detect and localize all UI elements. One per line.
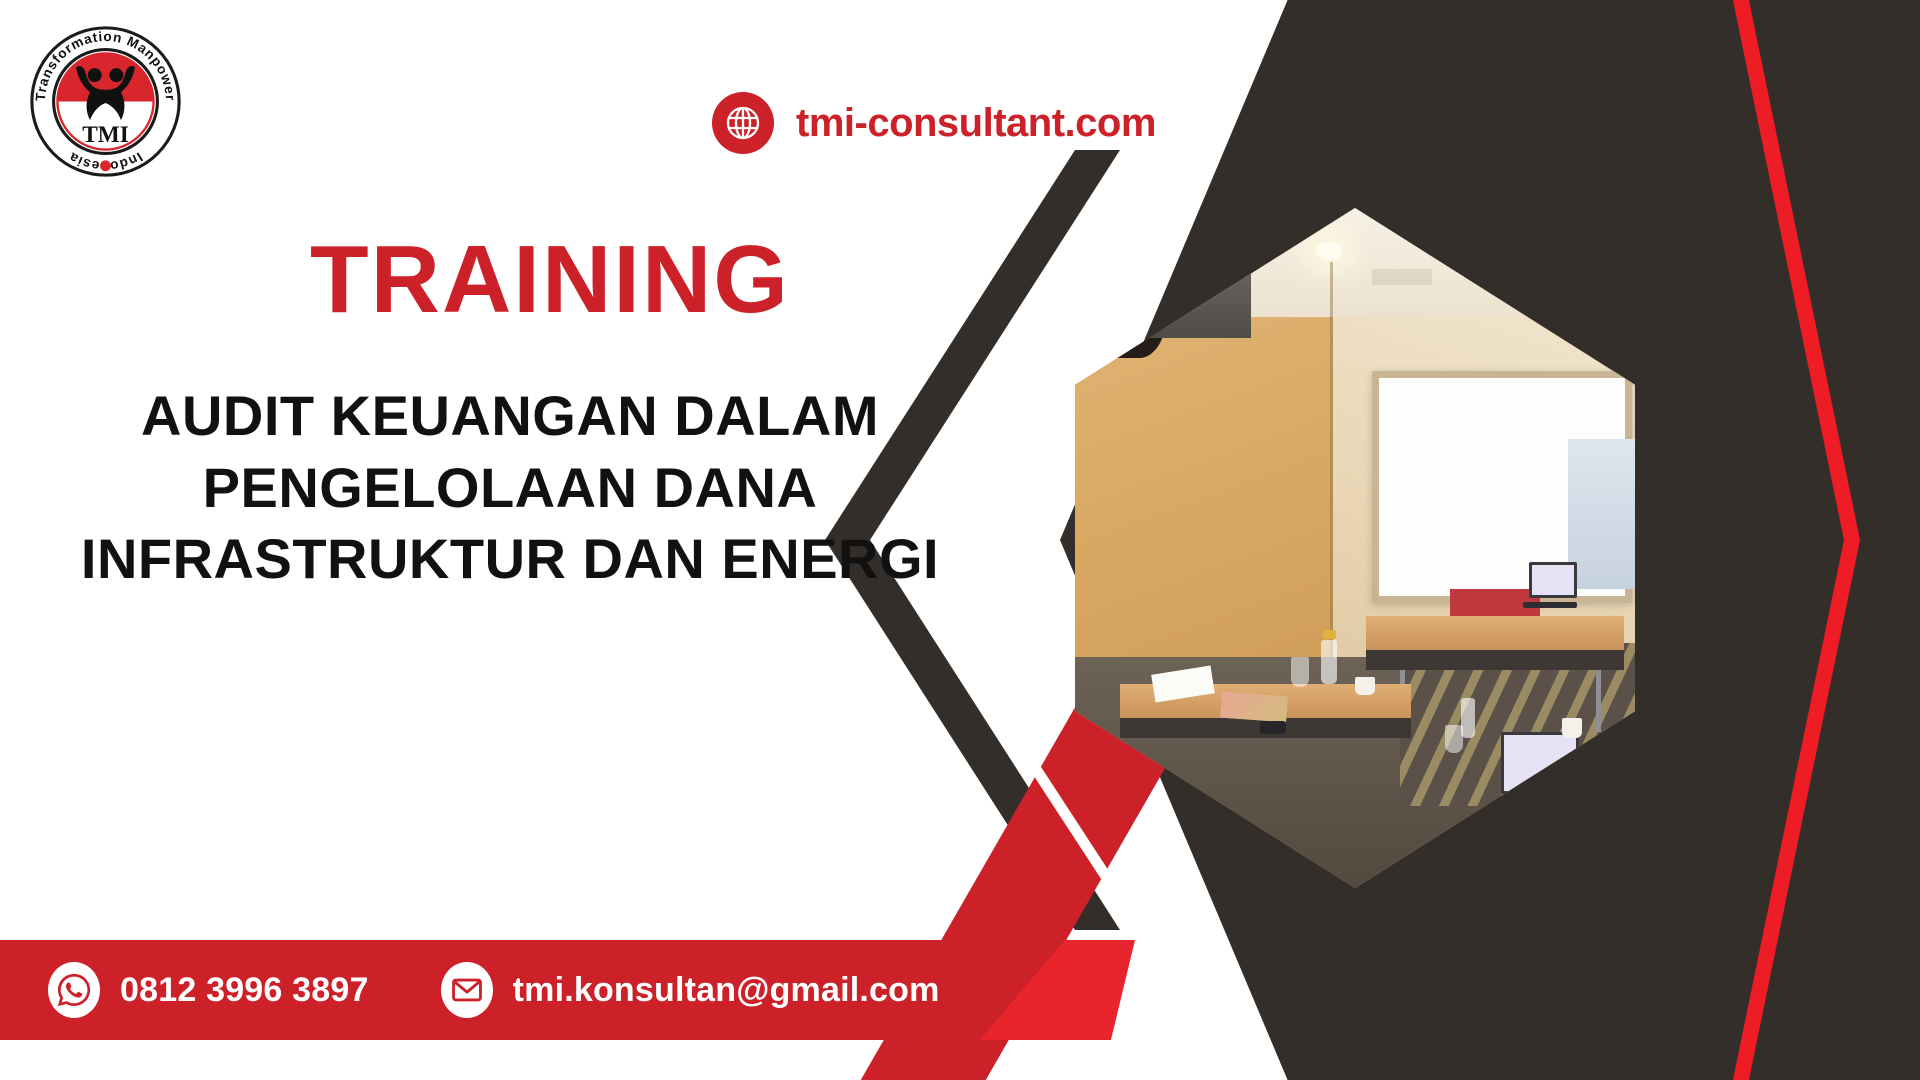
phone-number: 0812 3996 3897 xyxy=(120,971,369,1010)
email-address: tmi.konsultan@gmail.com xyxy=(513,971,940,1010)
logo-monogram: TMI xyxy=(82,122,129,148)
eyebrow-training: TRAINING xyxy=(310,232,790,328)
contact-phone[interactable]: 0812 3996 3897 xyxy=(48,962,369,1018)
page-title: AUDIT KEUANGAN DALAM PENGELOLAAN DANA IN… xyxy=(40,380,980,595)
globe-icon xyxy=(712,92,774,154)
title-line-2: PENGELOLAAN DANA xyxy=(40,452,980,524)
envelope-icon xyxy=(441,962,493,1018)
seminar-room-scene xyxy=(1075,208,1635,888)
footer-contact-bar: 0812 3996 3897 tmi.konsultan@gmail.com xyxy=(0,940,1065,1040)
red-hairline-on-dark xyxy=(1700,0,1860,1080)
contact-email[interactable]: tmi.konsultan@gmail.com xyxy=(441,962,940,1018)
tmi-logo: TMI Transformation Manpower Indonesia xyxy=(28,24,183,179)
title-line-1: AUDIT KEUANGAN DALAM xyxy=(40,380,980,452)
logo-red-dot xyxy=(100,160,111,171)
title-line-3: INFRASTRUKTUR DAN ENERGI xyxy=(40,523,980,595)
training-photo xyxy=(1075,208,1635,888)
website-url: tmi-consultant.com xyxy=(796,101,1156,146)
whatsapp-icon xyxy=(48,962,100,1018)
website-line[interactable]: tmi-consultant.com xyxy=(712,92,1156,154)
training-poster: TMI Transformation Manpower Indonesia tm… xyxy=(0,0,1920,1080)
laptop-screen xyxy=(1501,732,1579,794)
